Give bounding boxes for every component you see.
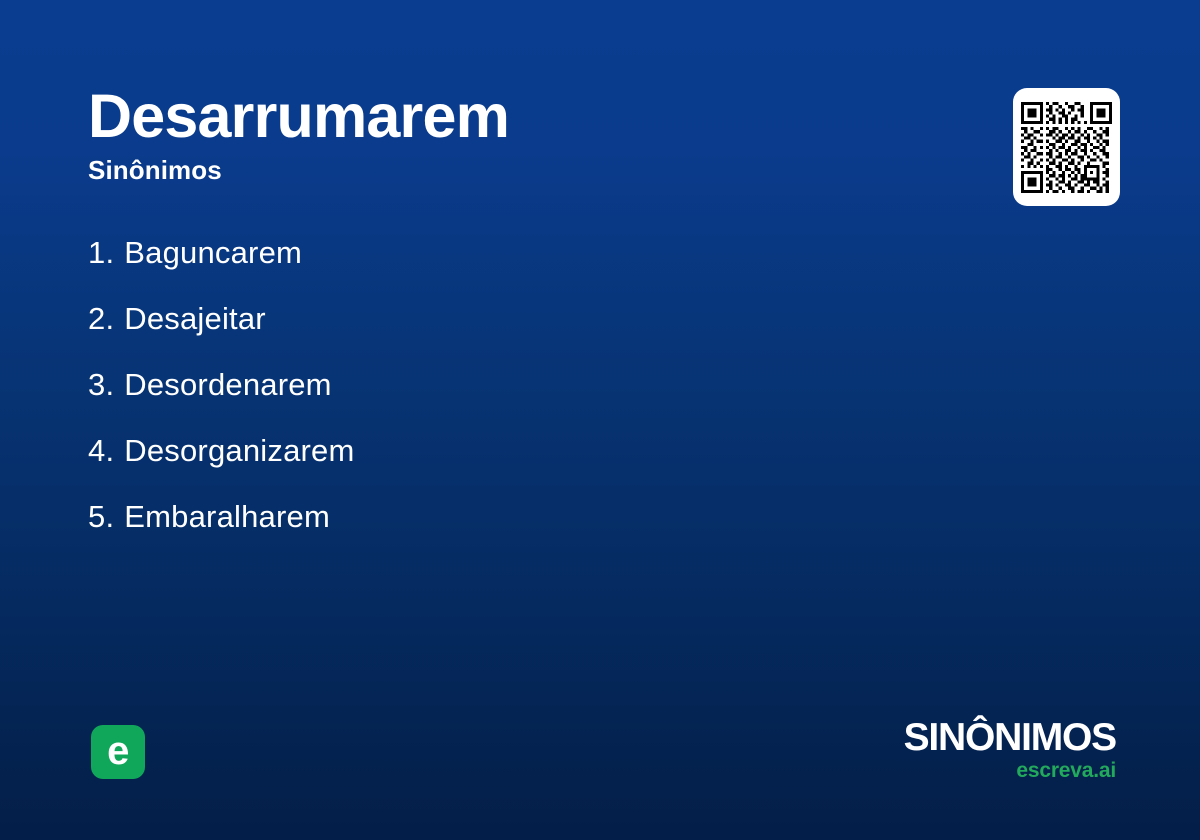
- list-item-word: Desorganizarem: [124, 431, 354, 471]
- list-item-word: Desajeitar: [124, 299, 266, 339]
- list-item-index: 4.: [88, 431, 114, 471]
- list-item-index: 2.: [88, 299, 114, 339]
- list-item-word: Desordenarem: [124, 365, 331, 405]
- page-title: Desarrumarem: [88, 84, 948, 149]
- escreva-e-badge-icon: e: [91, 725, 145, 779]
- qr-code-icon: [1021, 102, 1112, 193]
- list-item-word: Embaralharem: [124, 497, 330, 537]
- list-item-word: Baguncarem: [124, 233, 302, 273]
- list-item: 2. Desajeitar: [88, 299, 888, 365]
- brand-name: SINÔNIMOS: [904, 718, 1116, 758]
- list-item: 4. Desorganizarem: [88, 431, 888, 497]
- synonym-card: Desarrumarem Sinônimos: [0, 0, 1200, 840]
- list-item-index: 3.: [88, 365, 114, 405]
- brand-logo: SINÔNIMOS escreva.ai: [904, 718, 1116, 782]
- list-item: 1. Baguncarem: [88, 233, 888, 299]
- qr-code-container[interactable]: [1013, 88, 1120, 206]
- brand-domain: escreva.ai: [904, 759, 1116, 782]
- card-header: Desarrumarem Sinônimos: [88, 84, 948, 186]
- list-item-index: 1.: [88, 233, 114, 273]
- page-subtitle: Sinônimos: [88, 155, 948, 186]
- list-item: 3. Desordenarem: [88, 365, 888, 431]
- list-item: 5. Embaralharem: [88, 497, 888, 563]
- synonym-list: 1. Baguncarem 2. Desajeitar 3. Desordena…: [88, 233, 888, 563]
- escreva-e-badge-letter: e: [107, 731, 129, 771]
- list-item-index: 5.: [88, 497, 114, 537]
